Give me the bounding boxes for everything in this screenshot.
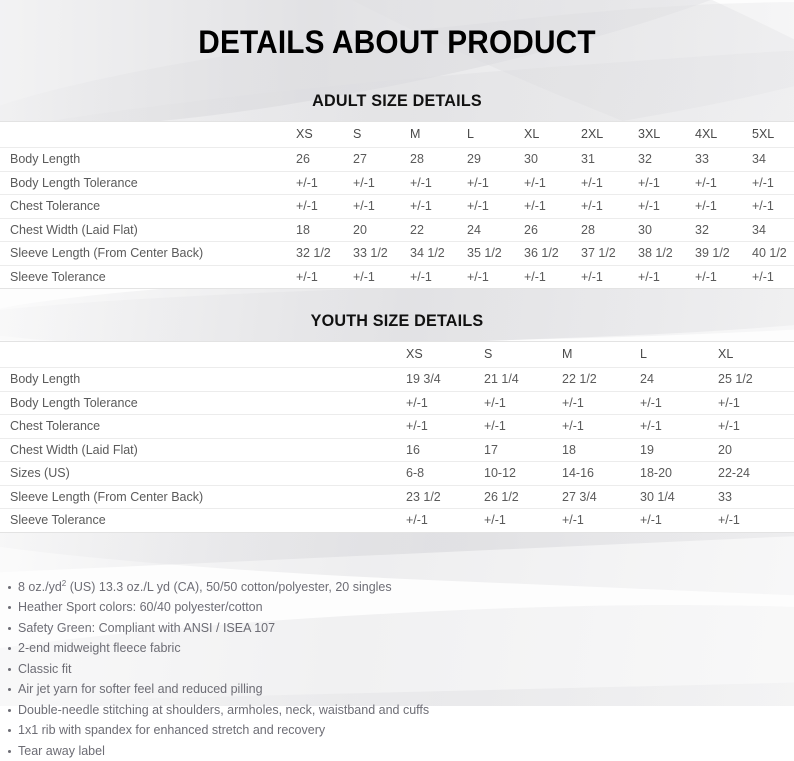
cell: +/-1 <box>410 195 467 219</box>
cell: 26 1/2 <box>484 485 562 509</box>
feature-item: Classic fit <box>0 659 794 680</box>
youth-column-header: XS <box>406 342 484 368</box>
cell: 35 1/2 <box>467 242 524 266</box>
row-label: Sleeve Length (From Center Back) <box>0 242 296 266</box>
cell: 34 <box>752 148 794 172</box>
cell: 39 1/2 <box>695 242 752 266</box>
cell: +/-1 <box>638 171 695 195</box>
cell: 19 <box>640 438 718 462</box>
table-row: Body Length 19 3/4 21 1/4 22 1/2 24 25 1… <box>0 368 794 392</box>
table-row: Chest Width (Laid Flat) 16 17 18 19 20 <box>0 438 794 462</box>
table-row: Sleeve Length (From Center Back) 23 1/2 … <box>0 485 794 509</box>
cell: +/-1 <box>406 391 484 415</box>
cell: 30 <box>524 148 581 172</box>
cell: 25 1/2 <box>718 368 794 392</box>
table-row: Sleeve Tolerance +/-1 +/-1 +/-1 +/-1 +/-… <box>0 509 794 532</box>
feature-item: Air jet yarn for softer feel and reduced… <box>0 679 794 700</box>
cell: 32 1/2 <box>296 242 353 266</box>
youth-column-header: XL <box>718 342 794 368</box>
row-label: Sleeve Length (From Center Back) <box>0 485 406 509</box>
cell: +/-1 <box>752 195 794 219</box>
adult-column-header: M <box>410 122 467 148</box>
cell: 22 <box>410 218 467 242</box>
youth-size-table: XS S M L XL Body Length 19 3/4 21 1/4 22… <box>0 342 794 532</box>
row-label: Sleeve Tolerance <box>0 509 406 532</box>
cell: 20 <box>353 218 410 242</box>
cell: 32 <box>695 218 752 242</box>
adult-column-header: S <box>353 122 410 148</box>
cell: 37 1/2 <box>581 242 638 266</box>
cell: 36 1/2 <box>524 242 581 266</box>
cell: +/-1 <box>638 195 695 219</box>
youth-size-section-title: YOUTH SIZE DETAILS <box>20 311 774 331</box>
feature-item: Tear away label <box>0 741 794 761</box>
adult-column-header: 4XL <box>695 122 752 148</box>
adult-column-header: XS <box>296 122 353 148</box>
cell: +/-1 <box>484 509 562 532</box>
cell: 18 <box>562 438 640 462</box>
cell: 27 <box>353 148 410 172</box>
cell: +/-1 <box>484 391 562 415</box>
youth-column-header: S <box>484 342 562 368</box>
cell: 31 <box>581 148 638 172</box>
table-row: Body Length Tolerance +/-1 +/-1 +/-1 +/-… <box>0 391 794 415</box>
cell: +/-1 <box>752 171 794 195</box>
youth-size-table-container: XS S M L XL Body Length 19 3/4 21 1/4 22… <box>0 341 794 533</box>
cell: 22 1/2 <box>562 368 640 392</box>
feature-item: 8 oz./yd2 (US) 13.3 oz./L yd (CA), 50/50… <box>0 577 794 598</box>
adult-column-header: 3XL <box>638 122 695 148</box>
adult-column-header: XL <box>524 122 581 148</box>
adult-header-row: XS S M L XL 2XL 3XL 4XL 5XL <box>0 122 794 148</box>
adult-table-body: Body Length 26 27 28 29 30 31 32 33 34 B… <box>0 148 794 289</box>
cell: +/-1 <box>581 171 638 195</box>
cell: +/-1 <box>718 415 794 439</box>
cell: +/-1 <box>562 415 640 439</box>
cell: 19 3/4 <box>406 368 484 392</box>
youth-column-header: L <box>640 342 718 368</box>
youth-corner-cell <box>0 342 406 368</box>
row-label: Sizes (US) <box>0 462 406 486</box>
cell: +/-1 <box>296 171 353 195</box>
cell: +/-1 <box>406 415 484 439</box>
cell: 6-8 <box>406 462 484 486</box>
page-title: DETAILS ABOUT PRODUCT <box>28 0 766 61</box>
cell: 28 <box>581 218 638 242</box>
cell: +/-1 <box>640 391 718 415</box>
cell: 24 <box>640 368 718 392</box>
feature-item: Double-needle stitching at shoulders, ar… <box>0 700 794 721</box>
table-row: Chest Width (Laid Flat) 18 20 22 24 26 2… <box>0 218 794 242</box>
cell: 10-12 <box>484 462 562 486</box>
cell: 40 1/2 <box>752 242 794 266</box>
cell: +/-1 <box>524 265 581 288</box>
row-label: Body Length <box>0 368 406 392</box>
adult-table-header: XS S M L XL 2XL 3XL 4XL 5XL <box>0 122 794 148</box>
table-row: Body Length 26 27 28 29 30 31 32 33 34 <box>0 148 794 172</box>
row-label: Chest Tolerance <box>0 415 406 439</box>
cell: 18 <box>296 218 353 242</box>
cell: 29 <box>467 148 524 172</box>
adult-size-section-title: ADULT SIZE DETAILS <box>20 91 774 111</box>
row-label: Chest Width (Laid Flat) <box>0 218 296 242</box>
youth-table-body: Body Length 19 3/4 21 1/4 22 1/2 24 25 1… <box>0 368 794 532</box>
row-label: Chest Width (Laid Flat) <box>0 438 406 462</box>
cell: 34 <box>752 218 794 242</box>
table-row: Body Length Tolerance +/-1 +/-1 +/-1 +/-… <box>0 171 794 195</box>
cell: +/-1 <box>562 391 640 415</box>
feature-item: 2-end midweight fleece fabric <box>0 638 794 659</box>
cell: 27 3/4 <box>562 485 640 509</box>
product-features-list: 8 oz./yd2 (US) 13.3 oz./L yd (CA), 50/50… <box>0 577 794 761</box>
cell: +/-1 <box>562 509 640 532</box>
cell: +/-1 <box>695 265 752 288</box>
adult-column-header: L <box>467 122 524 148</box>
cell: +/-1 <box>695 195 752 219</box>
cell: +/-1 <box>353 195 410 219</box>
product-details-page: DETAILS ABOUT PRODUCT ADULT SIZE DETAILS… <box>0 0 794 761</box>
cell: 16 <box>406 438 484 462</box>
cell: +/-1 <box>752 265 794 288</box>
adult-column-header: 2XL <box>581 122 638 148</box>
youth-header-row: XS S M L XL <box>0 342 794 368</box>
cell: +/-1 <box>406 509 484 532</box>
cell: +/-1 <box>296 265 353 288</box>
cell: 28 <box>410 148 467 172</box>
cell: +/-1 <box>410 171 467 195</box>
row-label: Sleeve Tolerance <box>0 265 296 288</box>
adult-corner-cell <box>0 122 296 148</box>
row-label: Body Length Tolerance <box>0 391 406 415</box>
cell: +/-1 <box>524 195 581 219</box>
cell: 21 1/4 <box>484 368 562 392</box>
cell: 23 1/2 <box>406 485 484 509</box>
cell: 33 <box>718 485 794 509</box>
cell: 24 <box>467 218 524 242</box>
cell: +/-1 <box>524 171 581 195</box>
cell: +/-1 <box>410 265 467 288</box>
table-row: Chest Tolerance +/-1 +/-1 +/-1 +/-1 +/-1 <box>0 415 794 439</box>
feature-item: Safety Green: Compliant with ANSI / ISEA… <box>0 618 794 639</box>
cell: 33 1/2 <box>353 242 410 266</box>
cell: +/-1 <box>640 415 718 439</box>
cell: +/-1 <box>484 415 562 439</box>
cell: +/-1 <box>581 195 638 219</box>
row-label: Chest Tolerance <box>0 195 296 219</box>
cell: +/-1 <box>296 195 353 219</box>
table-row: Sizes (US) 6-8 10-12 14-16 18-20 22-24 <box>0 462 794 486</box>
adult-size-table: XS S M L XL 2XL 3XL 4XL 5XL Body Length … <box>0 122 794 288</box>
cell: 14-16 <box>562 462 640 486</box>
cell: 30 1/4 <box>640 485 718 509</box>
youth-column-header: M <box>562 342 640 368</box>
cell: +/-1 <box>718 391 794 415</box>
cell: 26 <box>296 148 353 172</box>
cell: +/-1 <box>581 265 638 288</box>
row-label: Body Length Tolerance <box>0 171 296 195</box>
cell: 18-20 <box>640 462 718 486</box>
cell: 32 <box>638 148 695 172</box>
adult-size-table-container: XS S M L XL 2XL 3XL 4XL 5XL Body Length … <box>0 121 794 289</box>
adult-column-header: 5XL <box>752 122 794 148</box>
cell: +/-1 <box>467 171 524 195</box>
cell: 22-24 <box>718 462 794 486</box>
cell: +/-1 <box>718 509 794 532</box>
feature-item: 1x1 rib with spandex for enhanced stretc… <box>0 720 794 741</box>
feature-item: Heather Sport colors: 60/40 polyester/co… <box>0 597 794 618</box>
table-row: Sleeve Length (From Center Back) 32 1/2 … <box>0 242 794 266</box>
cell: +/-1 <box>638 265 695 288</box>
cell: 17 <box>484 438 562 462</box>
cell: +/-1 <box>353 265 410 288</box>
cell: 20 <box>718 438 794 462</box>
cell: 38 1/2 <box>638 242 695 266</box>
cell: 34 1/2 <box>410 242 467 266</box>
cell: 30 <box>638 218 695 242</box>
cell: +/-1 <box>467 265 524 288</box>
cell: 26 <box>524 218 581 242</box>
cell: +/-1 <box>695 171 752 195</box>
cell: +/-1 <box>467 195 524 219</box>
cell: 33 <box>695 148 752 172</box>
youth-table-header: XS S M L XL <box>0 342 794 368</box>
cell: +/-1 <box>640 509 718 532</box>
cell: +/-1 <box>353 171 410 195</box>
table-row: Sleeve Tolerance +/-1 +/-1 +/-1 +/-1 +/-… <box>0 265 794 288</box>
table-row: Chest Tolerance +/-1 +/-1 +/-1 +/-1 +/-1… <box>0 195 794 219</box>
row-label: Body Length <box>0 148 296 172</box>
feature-superscript: 2 <box>62 578 66 587</box>
